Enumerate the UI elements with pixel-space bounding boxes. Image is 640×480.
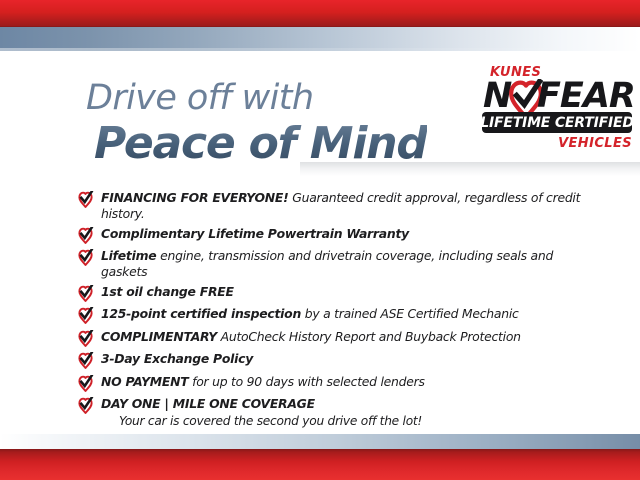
benefit-item: COMPLIMENTARY AutoCheck History Report a… — [76, 329, 596, 348]
benefits-list: FINANCING FOR EVERYONE! Guaranteed credi… — [76, 190, 596, 431]
benefit-body: Complimentary Lifetime Powertrain Warran… — [101, 226, 596, 242]
benefit-item: Lifetime engine, transmission and drivet… — [76, 248, 596, 280]
benefit-lead: FINANCING FOR EVERYONE! — [101, 190, 289, 205]
benefit-body: Lifetime engine, transmission and drivet… — [101, 248, 596, 280]
benefit-body: FINANCING FOR EVERYONE! Guaranteed credi… — [101, 190, 596, 222]
logo-wordmark: N FEAR — [480, 77, 636, 115]
logo-lifetime-certified-bar: LIFETIME CERTIFIED — [482, 112, 632, 133]
benefit-lead: 125-point certified inspection — [101, 306, 301, 321]
benefit-text: COMPLIMENTARY AutoCheck History Report a… — [101, 329, 596, 345]
advertisement-banner: Drive off with Peace of Mind KUNES N FEA… — [0, 0, 640, 480]
logo-letter-n: N — [483, 77, 511, 115]
heart-check-icon — [76, 375, 95, 392]
kunes-no-fear-logo: KUNES N FEAR LIFETIME CERTIFIED VEHICLES — [478, 62, 636, 168]
benefit-text: 1st oil change FREE — [101, 284, 596, 300]
benefit-rest: engine, transmission and drivetrain cove… — [101, 248, 553, 279]
benefit-text: Lifetime engine, transmission and drivet… — [101, 248, 596, 280]
benefit-body: NO PAYMENT for up to 90 days with select… — [101, 374, 596, 390]
benefit-item: DAY ONE | MILE ONE COVERAGEYour car is c… — [76, 396, 596, 429]
top-gray-stripe — [0, 27, 640, 51]
benefit-body: COMPLIMENTARY AutoCheck History Report a… — [101, 329, 596, 345]
bottom-red-stripe — [0, 449, 640, 480]
heart-check-icon — [76, 227, 95, 244]
benefit-lead: 1st oil change FREE — [101, 284, 234, 299]
benefit-rest: for up to 90 days with selected lenders — [188, 374, 424, 389]
heart-check-icon — [76, 285, 95, 302]
benefit-body: 1st oil change FREE — [101, 284, 596, 300]
benefit-body: 3-Day Exchange Policy — [101, 351, 596, 367]
benefit-item: FINANCING FOR EVERYONE! Guaranteed credi… — [76, 190, 596, 222]
heart-check-icon — [76, 191, 95, 208]
heart-check-icon — [76, 397, 95, 414]
heart-check-icon — [76, 249, 95, 266]
bottom-gray-stripe — [0, 434, 640, 449]
benefit-lead: Lifetime — [101, 248, 156, 263]
benefit-rest: AutoCheck History Report and Buyback Pro… — [217, 329, 521, 344]
headline-line-2: Peace of Mind — [94, 118, 427, 169]
benefit-item: Complimentary Lifetime Powertrain Warran… — [76, 226, 596, 245]
benefit-item: 125-point certified inspection by a trai… — [76, 306, 596, 325]
benefit-item: 1st oil change FREE — [76, 284, 596, 303]
heart-check-icon — [76, 307, 95, 324]
benefit-body: 125-point certified inspection by a trai… — [101, 306, 596, 322]
benefit-item: NO PAYMENT for up to 90 days with select… — [76, 374, 596, 393]
benefit-text: Complimentary Lifetime Powertrain Warran… — [101, 226, 596, 242]
benefit-text: FINANCING FOR EVERYONE! Guaranteed credi… — [101, 190, 596, 222]
benefit-lead: DAY ONE | MILE ONE COVERAGE — [101, 396, 315, 411]
heart-check-icon — [76, 330, 95, 347]
benefit-lead: Complimentary Lifetime Powertrain Warran… — [101, 226, 409, 241]
benefit-text: DAY ONE | MILE ONE COVERAGE — [101, 396, 596, 412]
top-red-stripe — [0, 0, 640, 27]
logo-vehicles-text: VEHICLES — [558, 136, 632, 151]
benefit-body: DAY ONE | MILE ONE COVERAGEYour car is c… — [101, 396, 596, 429]
heart-check-icon — [76, 352, 95, 369]
logo-letters-fear: FEAR — [537, 77, 635, 115]
benefit-text: 3-Day Exchange Policy — [101, 351, 596, 367]
benefit-subtext: Your car is covered the second you drive… — [101, 413, 596, 429]
benefit-lead: 3-Day Exchange Policy — [101, 351, 253, 366]
logo-lifetime-certified-text: LIFETIME CERTIFIED — [480, 115, 634, 131]
benefit-lead: COMPLIMENTARY — [101, 329, 217, 344]
benefit-lead: NO PAYMENT — [101, 374, 188, 389]
benefit-item: 3-Day Exchange Policy — [76, 351, 596, 370]
benefit-text: 125-point certified inspection by a trai… — [101, 306, 596, 322]
headline-line-1: Drive off with — [86, 78, 313, 118]
benefit-text: NO PAYMENT for up to 90 days with select… — [101, 374, 596, 390]
benefit-rest: by a trained ASE Certified Mechanic — [301, 306, 519, 321]
